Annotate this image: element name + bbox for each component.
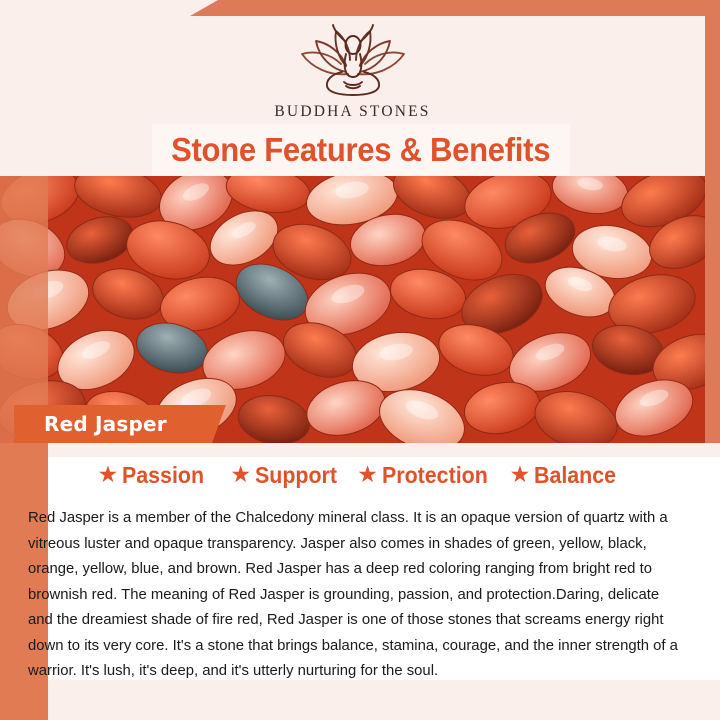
brand-logo: BUDDHA STONES	[0, 24, 705, 121]
decorative-top-bar	[190, 0, 720, 16]
content-panel-top-strip	[48, 443, 720, 457]
brand-name: BUDDHA STONES	[274, 103, 430, 121]
stone-photo-graphic	[0, 176, 705, 443]
stone-description: Red Jasper is a member of the Chalcedony…	[28, 505, 686, 684]
benefit-label-passion: Passion	[122, 462, 204, 489]
benefit-support: ★ Support	[230, 462, 343, 489]
star-icon: ★	[510, 463, 531, 486]
benefit-protection: ★ Protection	[357, 462, 495, 489]
header: BUDDHA STONES Stone Features & Benefits	[0, 16, 705, 176]
stone-photo	[0, 176, 705, 443]
stone-name: Red Jasper	[44, 412, 167, 436]
star-icon: ★	[98, 463, 119, 486]
star-icon: ★	[230, 463, 251, 486]
infographic-page: BUDDHA STONES Stone Features & Benefits	[0, 0, 720, 720]
benefits-row: ★ Passion ★ Support ★ Protection ★ Balan…	[0, 462, 720, 489]
benefit-label-support: Support	[255, 462, 337, 489]
benefit-label-protection: Protection	[382, 462, 488, 489]
decorative-right-bar	[704, 0, 720, 460]
page-title-box: Stone Features & Benefits	[152, 124, 570, 176]
benefit-balance: ★ Balance	[510, 462, 623, 489]
page-title: Stone Features & Benefits	[171, 131, 550, 169]
decorative-bottom-cream-fill	[48, 680, 720, 720]
benefit-label-balance: Balance	[534, 462, 616, 489]
benefit-passion: ★ Passion	[98, 462, 211, 489]
star-icon: ★	[357, 463, 378, 486]
lotus-meditation-icon	[286, 24, 420, 98]
stone-name-bar: Red Jasper	[14, 405, 226, 443]
photo-left-tint-overlay	[0, 176, 48, 443]
